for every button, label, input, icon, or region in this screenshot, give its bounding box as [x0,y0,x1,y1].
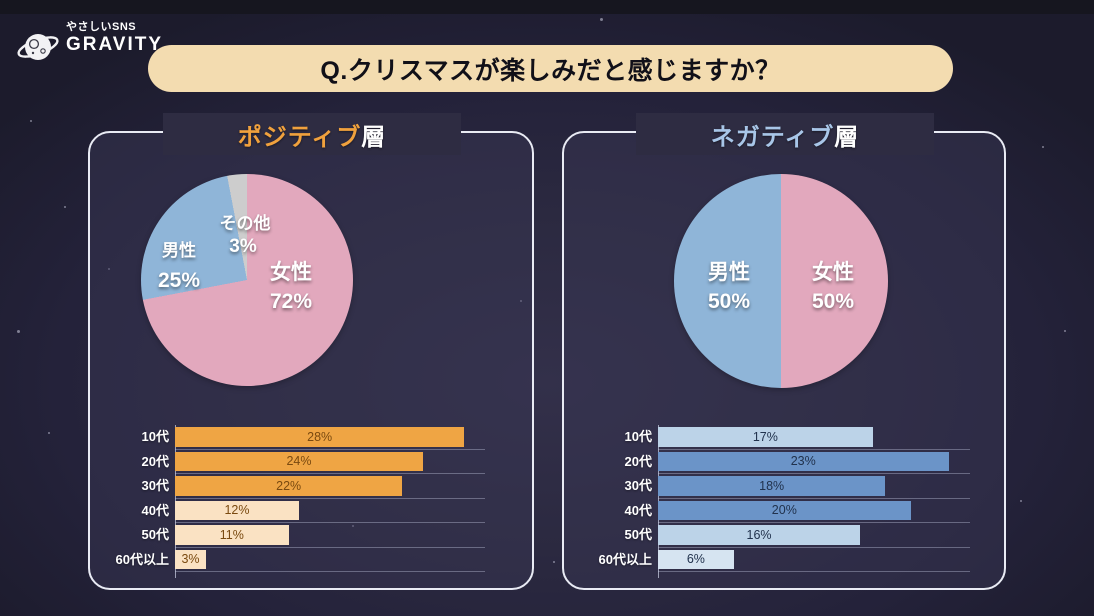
bar-fill: 16% [658,525,860,545]
positive-age-bars: 10代28%20代24%30代22%40代12%50代11%60代以上3% [90,425,536,585]
bar-row: 60代以上3% [90,548,536,573]
bar-value-label: 17% [753,430,778,444]
panel-label-negative-suffix: 層 [834,124,859,151]
brand-tagline: やさしいSNS [66,20,158,34]
slide-root: やさしいSNS GRAVITY Q.クリスマスが楽しみだと感じますか？ その他 … [0,0,1094,616]
positive-gender-pie: その他 男性 3% 25% 女性 72% [141,174,353,386]
bar-fill: 3% [175,550,206,570]
bar-value-label: 18% [759,479,784,493]
bar-track: 18% [658,476,970,496]
panel-label-negative-accent: ネガティブ [711,124,835,151]
pie-value-female: 72% [253,290,329,314]
bar-category-label: 20代 [564,450,652,475]
bar-value-label: 12% [224,503,249,517]
bar-row: 50代11% [90,523,536,548]
panel-label-positive: ポジティブ層 [163,113,461,155]
bar-track: 28% [175,427,485,447]
panel-negative: 男性 50% 女性 50% 10代17%20代23%30代18%40代20%50… [562,131,1006,590]
bar-fill: 17% [658,427,873,447]
bar-row: 10代17% [564,425,1008,450]
star-decoration [64,206,66,208]
negative-age-bars: 10代17%20代23%30代18%40代20%50代16%60代以上6% [564,425,1008,585]
star-decoration [553,561,555,563]
bar-value-label: 22% [276,479,301,493]
bar-track: 16% [658,525,970,545]
star-decoration [30,120,32,122]
pie-label-other: その他 [185,209,305,234]
bar-fill: 23% [658,452,949,472]
bar-value-label: 28% [307,430,332,444]
bar-fill: 24% [175,452,423,472]
pie-value-female: 50% [790,290,876,314]
bar-value-label: 23% [791,454,816,468]
panel-label-positive-suffix: 層 [361,124,386,151]
page-title: Q.クリスマスが楽しみだと感じますか？ [320,51,780,87]
pie-label-male: 男性 [686,256,772,286]
bar-category-label: 30代 [564,474,652,499]
bar-track: 11% [175,525,485,545]
pie-value-male: 25% [143,269,215,293]
bar-track: 3% [175,550,485,570]
bar-value-label: 11% [220,528,244,542]
star-decoration [1064,330,1066,332]
question-banner: Q.クリスマスが楽しみだと感じますか？ [148,45,953,92]
bar-track: 12% [175,501,485,521]
bar-category-label: 30代 [90,474,169,499]
bar-row: 20代24% [90,450,536,475]
bar-row: 20代23% [564,450,1008,475]
bar-fill: 12% [175,501,299,521]
bar-fill: 28% [175,427,464,447]
bar-category-label: 40代 [564,499,652,524]
bar-row: 30代18% [564,474,1008,499]
bar-value-label: 16% [747,528,772,542]
brand-logo[interactable]: やさしいSNS GRAVITY [14,18,154,70]
bar-category-label: 10代 [90,425,169,450]
star-decoration [1042,146,1044,148]
star-decoration [48,432,50,434]
bar-track: 22% [175,476,485,496]
pie-label-female: 女性 [790,256,876,286]
bar-track: 23% [658,452,970,472]
bar-category-label: 40代 [90,499,169,524]
bar-track: 6% [658,550,970,570]
bar-track: 24% [175,452,485,472]
pie-value-male: 50% [686,290,772,314]
bar-fill: 6% [658,550,734,570]
bar-category-label: 50代 [90,523,169,548]
bar-track: 17% [658,427,970,447]
negative-gender-pie: 男性 50% 女性 50% [674,174,888,388]
bar-category-label: 60代以上 [90,548,169,573]
bar-value-label: 6% [687,552,705,566]
panel-positive: その他 男性 3% 25% 女性 72% 10代28%20代24%30代22%4… [88,131,534,590]
bar-category-label: 60代以上 [564,548,652,573]
pie-value-other: 3% [217,236,269,258]
planet-icon [16,26,60,70]
bar-fill: 11% [175,525,289,545]
panel-label-positive-accent: ポジティブ [238,124,362,151]
bar-row: 40代12% [90,499,536,524]
bar-category-label: 20代 [90,450,169,475]
pie-label-female: 女性 [253,256,329,286]
bar-value-label: 3% [181,552,199,566]
star-decoration [1020,500,1022,502]
bar-row: 50代16% [564,523,1008,548]
bar-category-label: 10代 [564,425,652,450]
bar-fill: 22% [175,476,402,496]
bar-row: 40代20% [564,499,1008,524]
bar-track: 20% [658,501,970,521]
bar-fill: 18% [658,476,885,496]
bar-row: 30代22% [90,474,536,499]
star-decoration [600,18,603,21]
bar-value-label: 20% [772,503,797,517]
bar-value-label: 24% [286,454,311,468]
bar-fill: 20% [658,501,911,521]
bar-row: 10代28% [90,425,536,450]
top-band [0,0,1094,14]
panel-label-negative: ネガティブ層 [636,113,934,155]
bar-category-label: 50代 [564,523,652,548]
brand-name: GRAVITY [66,34,158,56]
bar-row: 60代以上6% [564,548,1008,573]
star-decoration [17,330,20,333]
brand-text: やさしいSNS GRAVITY [66,20,158,56]
pie-label-male: 男性 [143,236,215,261]
